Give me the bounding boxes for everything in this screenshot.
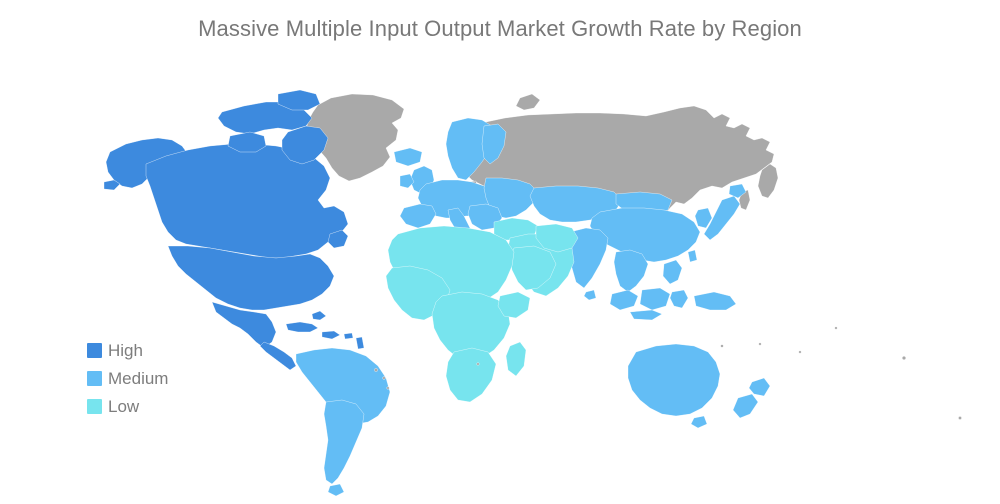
island-dot	[799, 351, 802, 354]
legend-label-medium: Medium	[108, 369, 168, 388]
island-dot	[383, 377, 386, 380]
region-cuba[interactable]	[286, 322, 318, 332]
island-dot	[958, 416, 961, 419]
region-russia-novaya-zemlya[interactable]	[516, 94, 540, 110]
world-map-svg	[0, 56, 1000, 504]
region-bahamas[interactable]	[312, 311, 326, 320]
island-dot	[387, 387, 390, 390]
region-south-america-south[interactable]	[324, 400, 364, 484]
region-indonesia-sulawesi[interactable]	[670, 290, 688, 308]
region-indonesia-borneo[interactable]	[640, 288, 670, 310]
legend-swatch-low	[87, 399, 102, 414]
legend-label-low: Low	[108, 397, 139, 416]
region-sri-lanka[interactable]	[584, 290, 596, 300]
region-hispaniola[interactable]	[322, 331, 340, 339]
legend-label-high: High	[108, 341, 143, 360]
island-dot	[835, 327, 838, 330]
region-philippines[interactable]	[663, 260, 682, 284]
world-choropleth-map: Massive Multiple Input Output Market Gro…	[0, 0, 1000, 504]
map-legend: High Medium Low	[87, 341, 168, 416]
region-australia[interactable]	[628, 344, 720, 416]
region-iberia[interactable]	[400, 204, 436, 228]
region-south-america-tip[interactable]	[328, 484, 344, 496]
region-new-zealand-north[interactable]	[749, 378, 770, 396]
region-indonesia-java[interactable]	[630, 310, 662, 320]
map-canvas	[0, 56, 1000, 504]
page-title: Massive Multiple Input Output Market Gro…	[0, 16, 1000, 42]
island-dot	[721, 345, 724, 348]
region-tasmania[interactable]	[691, 416, 707, 428]
region-papua-new-guinea[interactable]	[694, 292, 736, 310]
region-lesser-antilles[interactable]	[356, 337, 364, 349]
legend-item-medium[interactable]: Medium	[87, 369, 168, 388]
region-central-america[interactable]	[260, 342, 296, 370]
region-southeast-asia[interactable]	[614, 250, 648, 292]
island-dot	[759, 343, 762, 346]
region-southern-africa[interactable]	[446, 348, 496, 402]
region-canada[interactable]	[146, 144, 348, 258]
island-dot	[374, 368, 377, 371]
region-indonesia-sumatra[interactable]	[610, 290, 638, 310]
region-horn-of-africa[interactable]	[498, 292, 530, 318]
island-dot	[477, 363, 480, 366]
region-puerto-rico[interactable]	[344, 333, 353, 339]
legend-item-low[interactable]: Low	[87, 397, 168, 416]
region-canada-victoria[interactable]	[228, 132, 266, 152]
region-new-zealand-south[interactable]	[733, 394, 758, 418]
region-united-states[interactable]	[168, 246, 334, 310]
region-china[interactable]	[590, 208, 700, 262]
region-canada-baffin[interactable]	[282, 126, 328, 164]
legend-swatch-medium	[87, 371, 102, 386]
region-iceland[interactable]	[394, 148, 422, 166]
region-taiwan[interactable]	[688, 250, 697, 262]
island-dot	[902, 356, 906, 360]
region-madagascar[interactable]	[506, 342, 526, 376]
legend-swatch-high	[87, 343, 102, 358]
map-regions-low	[386, 218, 578, 402]
legend-item-high[interactable]: High	[87, 341, 168, 360]
